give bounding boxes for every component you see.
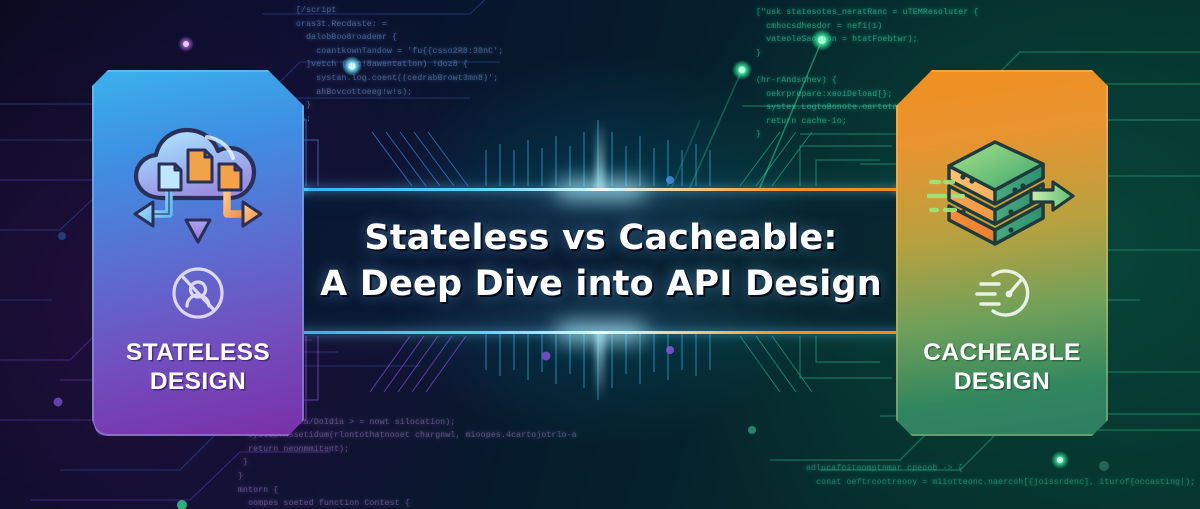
card-label-cacheable-line2: DESIGN	[923, 367, 1080, 396]
no-session-crossed-circle-icon	[161, 262, 235, 324]
speedometer-fast-icon	[965, 262, 1039, 324]
title-line-2: A Deep Dive into API Design	[320, 262, 882, 306]
card-stateless-design[interactable]: STATELESS DESIGN	[92, 70, 304, 436]
banner-root: [/script oras3t.Recdaste: = dalobBoo8roa…	[0, 0, 1200, 509]
card-cacheable-design[interactable]: CACHEABLE DESIGN	[896, 70, 1108, 436]
card-label-stateless-line2: DESIGN	[126, 367, 270, 396]
cloud-with-branching-arrows-icon	[123, 120, 273, 252]
card-label-cacheable-line1: CACHEABLE	[923, 338, 1080, 367]
card-label-cacheable: CACHEABLE DESIGN	[923, 338, 1080, 396]
title-line-1: Stateless vs Cacheable:	[364, 216, 837, 260]
card-label-stateless-line1: STATELESS	[126, 338, 270, 367]
banner-title: Stateless vs Cacheable: A Deep Dive into…	[296, 190, 906, 332]
card-label-stateless: STATELESS DESIGN	[126, 338, 270, 396]
layered-cache-server-stack-icon	[927, 120, 1077, 252]
